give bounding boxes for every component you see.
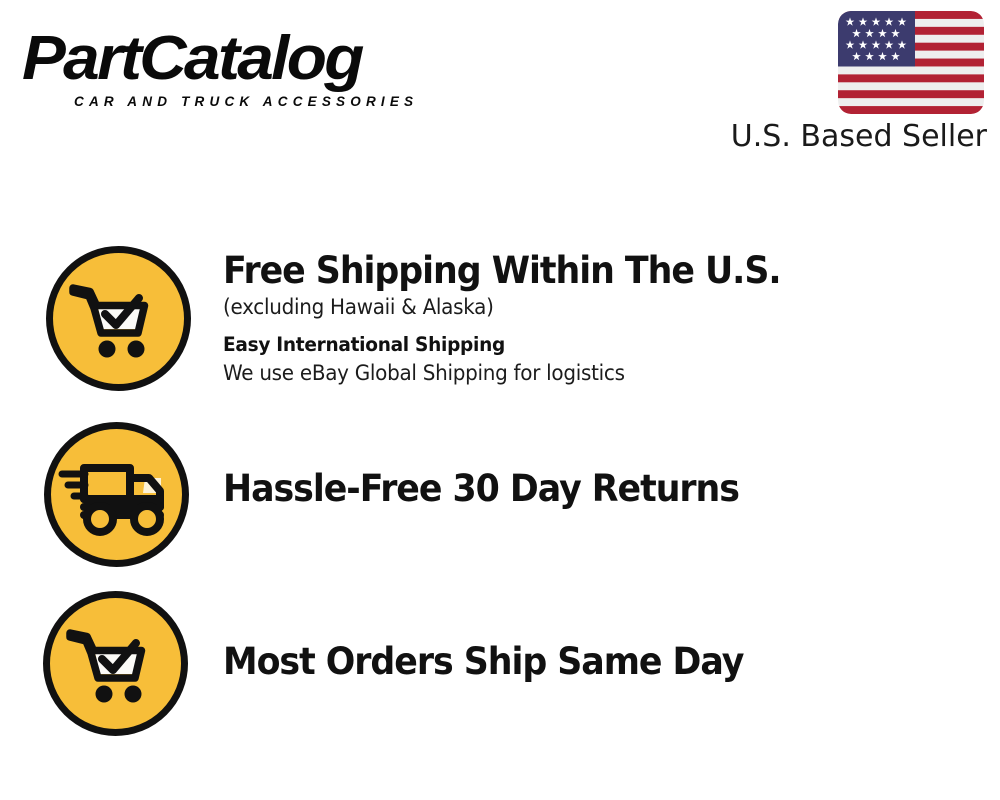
feature-row: Hassle-Free 30 Day Returns [0,418,1000,573]
us-based-seller-label: U.S. Based Seller [725,119,987,155]
us-flag-icon [838,11,984,114]
shopping-cart-check-icon [45,245,192,392]
brand-logo[interactable]: PartCatalog CAR AND TRUCK ACCESSORIES [22,26,492,116]
page-header: PartCatalog CAR AND TRUCK ACCESSORIES [0,0,1000,170]
feature-text-block: Most Orders Ship Same Day [223,640,983,684]
shopping-cart-check-icon [42,590,189,737]
delivery-truck-icon [43,421,190,568]
feature-text-block: Hassle-Free 30 Day Returns [223,467,983,511]
feature-heading: Free Shipping Within The U.S. [223,249,937,293]
feature-subtext-international-heading: Easy International Shipping [223,332,945,358]
feature-subtext-logistics: We use eBay Global Shipping for logistic… [223,359,945,387]
feature-subtext-exclusion: (excluding Hawaii & Alaska) [223,293,945,321]
feature-heading: Most Orders Ship Same Day [223,640,937,684]
feature-heading: Hassle-Free 30 Day Returns [223,467,937,511]
brand-wordmark: PartCatalog [22,26,520,92]
feature-row: Free Shipping Within The U.S. (excluding… [0,245,1000,405]
feature-text-block: Free Shipping Within The U.S. (excluding… [223,249,983,387]
feature-row: Most Orders Ship Same Day [0,588,1000,743]
brand-tagline: CAR AND TRUCK ACCESSORIES [74,94,492,109]
